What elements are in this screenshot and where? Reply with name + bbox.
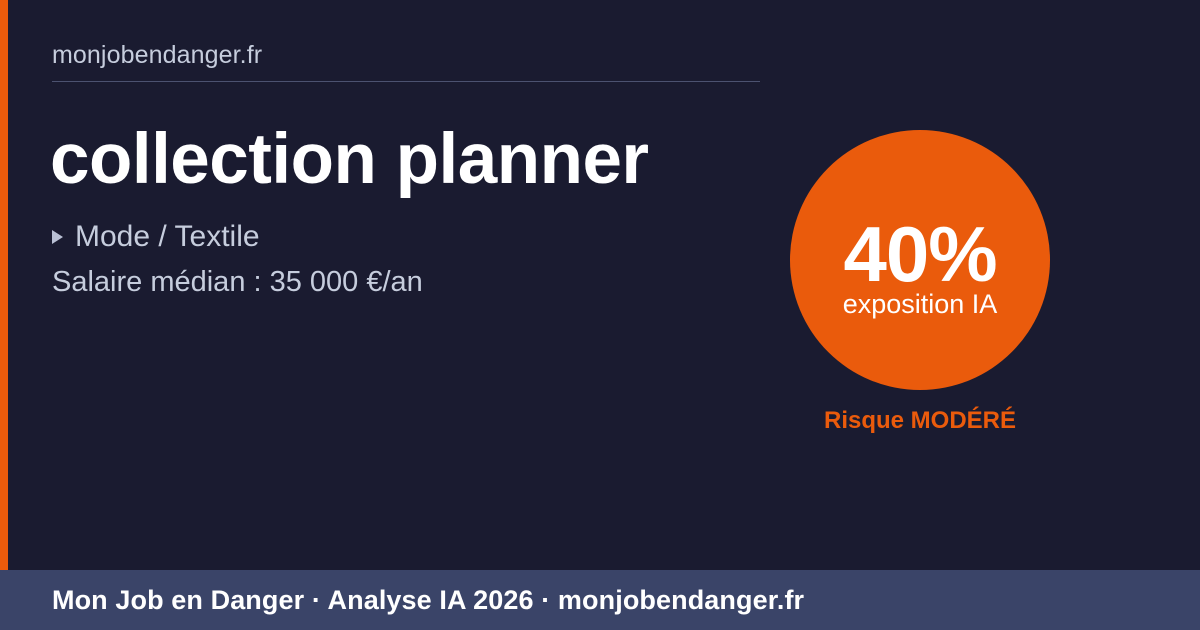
caret-right-icon xyxy=(52,230,63,244)
accent-rail xyxy=(0,0,8,570)
salary-label: Salaire médian : 35 000 €/an xyxy=(52,264,423,300)
social-share-card: monjobendanger.fr collection planner Mod… xyxy=(0,0,1200,630)
footer-bar: Mon Job en Danger · Analyse IA 2026 · mo… xyxy=(0,570,1200,630)
page-title: collection planner xyxy=(50,118,770,202)
risk-badge: Risque MODÉRÉ xyxy=(790,405,1050,437)
header-divider xyxy=(52,81,760,82)
brand-header: monjobendanger.fr xyxy=(52,40,762,82)
sector-row: Mode / Textile xyxy=(52,219,260,255)
sector-label: Mode / Textile xyxy=(75,219,260,255)
footer-text: Mon Job en Danger · Analyse IA 2026 · mo… xyxy=(52,584,804,616)
ai-exposure-gauge: 40% exposition IA xyxy=(790,130,1050,390)
ai-exposure-caption: exposition IA xyxy=(843,289,998,319)
ai-exposure-value: 40% xyxy=(843,217,996,291)
site-name: monjobendanger.fr xyxy=(52,40,762,70)
